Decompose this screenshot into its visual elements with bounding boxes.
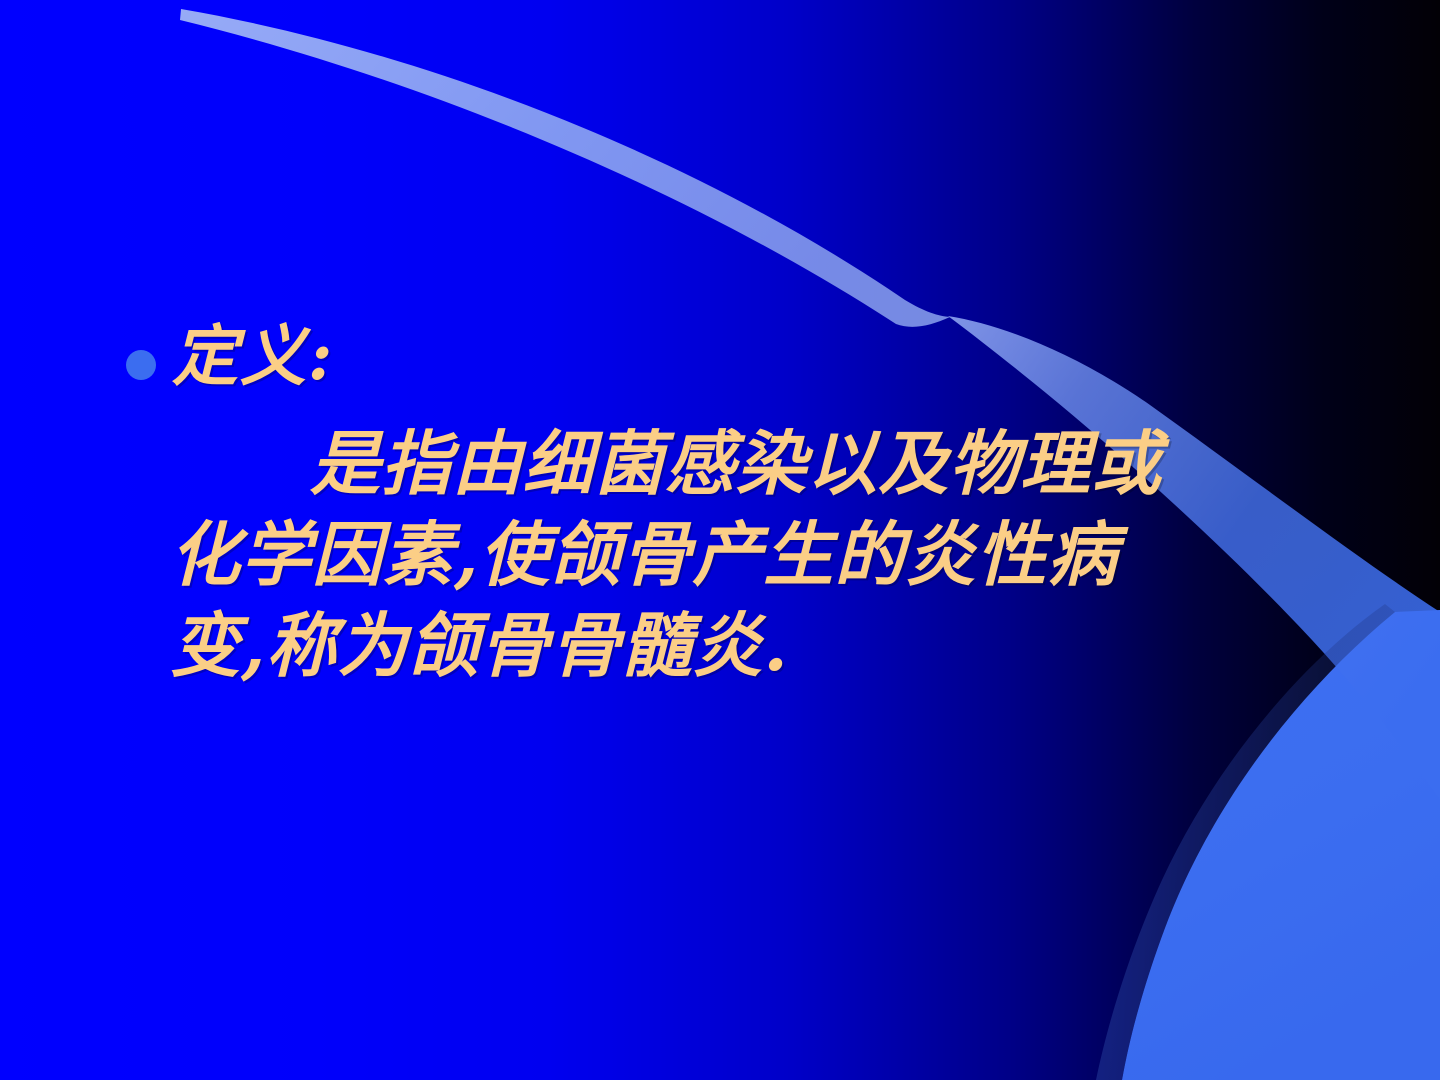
body-paragraph: 是指由细菌感染以及物理或 化学因素,使颌骨产生的炎性病 变,称为颌骨骨髓炎.	[170, 418, 1300, 691]
body-line-2: 化学因素,使颌骨产生的炎性病	[170, 509, 1300, 600]
body-line-3: 变,称为颌骨骨髓炎.	[170, 600, 1300, 691]
body-line-3-text: 变,称为颌骨骨髓炎.	[170, 604, 789, 687]
filled-circle-bullet-icon	[126, 350, 156, 380]
body-line-1-text: 是指由细菌感染以及物理或	[310, 422, 1162, 505]
body-line-1: 是指由细菌感染以及物理或	[170, 418, 1300, 509]
body-line-2-text: 化学因素,使颌骨产生的炎性病	[170, 513, 1118, 596]
slide-canvas: 定义: 是指由细菌感染以及物理或 化学因素,使颌骨产生的炎性病 变,称为颌骨骨髓…	[0, 0, 1440, 1080]
bullet-item-definition: 定义:	[126, 322, 334, 391]
bullet-item-label: 定义:	[172, 322, 334, 391]
slide-content: 定义: 是指由细菌感染以及物理或 化学因素,使颌骨产生的炎性病 变,称为颌骨骨髓…	[0, 0, 1440, 1080]
